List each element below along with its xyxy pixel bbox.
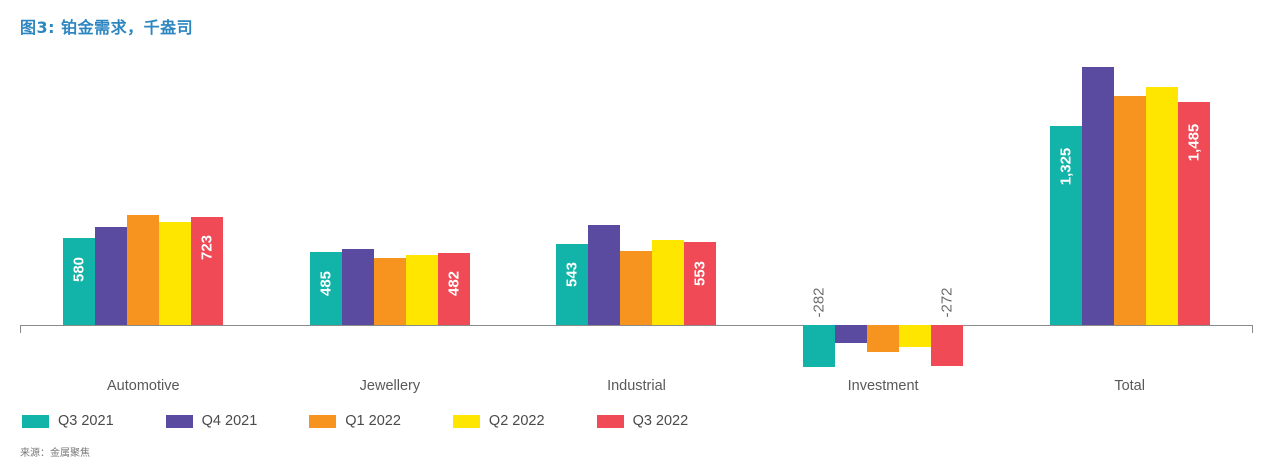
bar[interactable]	[159, 222, 191, 325]
bar[interactable]	[931, 325, 963, 366]
bar[interactable]	[191, 217, 223, 325]
category-label-jewellery: Jewellery	[267, 378, 514, 400]
bar[interactable]	[374, 258, 406, 325]
bars: 580723	[20, 55, 267, 375]
bar-slot	[1082, 55, 1114, 375]
bar-slot	[342, 55, 374, 375]
bar-slot	[588, 55, 620, 375]
bar-slot: -272	[931, 55, 963, 375]
legend-swatch-icon	[166, 415, 193, 428]
chart-legend: Q3 2021Q4 2021Q1 2022Q2 2022Q3 2022	[22, 411, 740, 431]
bar-value-label: 553	[692, 261, 709, 286]
legend-item-q3-2021[interactable]: Q3 2021	[22, 413, 114, 429]
category-label-industrial: Industrial	[513, 378, 760, 400]
bar[interactable]	[1114, 96, 1146, 325]
bar-value-label: -282	[811, 287, 828, 317]
bar-slot: 553	[684, 55, 716, 375]
legend-item-q4-2021[interactable]: Q4 2021	[166, 413, 258, 429]
bar[interactable]	[835, 325, 867, 343]
legend-swatch-icon	[453, 415, 480, 428]
bar-slot: 723	[191, 55, 223, 375]
bar[interactable]	[1146, 87, 1178, 325]
bar-group-industrial: 543553	[513, 55, 760, 375]
legend-swatch-icon	[22, 415, 49, 428]
bar-value-label: 543	[564, 262, 581, 287]
source-note: 来源：金属聚焦	[20, 444, 90, 459]
bar-value-label: 1,325	[1057, 147, 1074, 185]
legend-label: Q3 2021	[58, 413, 114, 429]
bar-slot: 1,485	[1178, 55, 1210, 375]
legend-label: Q4 2021	[202, 413, 258, 429]
bar[interactable]	[899, 325, 931, 347]
chart-plot-area: 580723485482543553-282-2721,3251,485	[20, 55, 1253, 375]
bar-slot	[95, 55, 127, 375]
category-label-total: Total	[1006, 378, 1253, 400]
bar-slot	[1114, 55, 1146, 375]
bar-slot	[835, 55, 867, 375]
legend-label: Q2 2022	[489, 413, 545, 429]
category-axis-labels: AutomotiveJewelleryIndustrialInvestmentT…	[20, 378, 1253, 400]
page-title: 图3: 铂金需求，千盎司	[20, 14, 193, 38]
bar-value-label: 1,485	[1185, 123, 1202, 161]
bar-slot	[1146, 55, 1178, 375]
bar-group-investment: -282-272	[760, 55, 1007, 375]
bar[interactable]	[95, 227, 127, 325]
bar-slot	[652, 55, 684, 375]
legend-label: Q1 2022	[345, 413, 401, 429]
bar[interactable]	[652, 240, 684, 325]
bar-slot	[867, 55, 899, 375]
bars: 485482	[267, 55, 514, 375]
bar-group-jewellery: 485482	[267, 55, 514, 375]
legend-item-q1-2022[interactable]: Q1 2022	[309, 413, 401, 429]
bar-group-total: 1,3251,485	[1006, 55, 1253, 375]
legend-label: Q3 2022	[633, 413, 689, 429]
bar-slot	[159, 55, 191, 375]
bar[interactable]	[803, 325, 835, 367]
bar[interactable]	[1082, 67, 1114, 325]
bar-slot: 482	[438, 55, 470, 375]
legend-item-q2-2022[interactable]: Q2 2022	[453, 413, 545, 429]
bar-value-label: 580	[71, 256, 88, 281]
category-label-investment: Investment	[760, 378, 1007, 400]
bar-slot	[374, 55, 406, 375]
category-label-automotive: Automotive	[20, 378, 267, 400]
bar[interactable]	[342, 249, 374, 325]
bar[interactable]	[867, 325, 899, 352]
bars: -282-272	[760, 55, 1007, 375]
bar-slot: 1,325	[1050, 55, 1082, 375]
bar-group-automotive: 580723	[20, 55, 267, 375]
bar-slot: -282	[803, 55, 835, 375]
bar-value-label: 485	[317, 271, 334, 296]
bar-groups: 580723485482543553-282-2721,3251,485	[20, 55, 1253, 375]
bars: 1,3251,485	[1006, 55, 1253, 375]
bar-slot: 485	[310, 55, 342, 375]
bar-slot: 580	[63, 55, 95, 375]
bar[interactable]	[588, 225, 620, 325]
bars: 543553	[513, 55, 760, 375]
bar-slot	[406, 55, 438, 375]
bar-slot	[620, 55, 652, 375]
bar[interactable]	[127, 215, 159, 325]
legend-swatch-icon	[597, 415, 624, 428]
bar-value-label: 482	[445, 271, 462, 296]
bar-slot	[899, 55, 931, 375]
bar-slot: 543	[556, 55, 588, 375]
bar[interactable]	[620, 251, 652, 325]
legend-swatch-icon	[309, 415, 336, 428]
legend-item-q3-2022[interactable]: Q3 2022	[597, 413, 689, 429]
bar-slot	[127, 55, 159, 375]
bar-value-label: 723	[199, 235, 216, 260]
bar[interactable]	[406, 255, 438, 325]
bar-value-label: -272	[939, 287, 956, 317]
